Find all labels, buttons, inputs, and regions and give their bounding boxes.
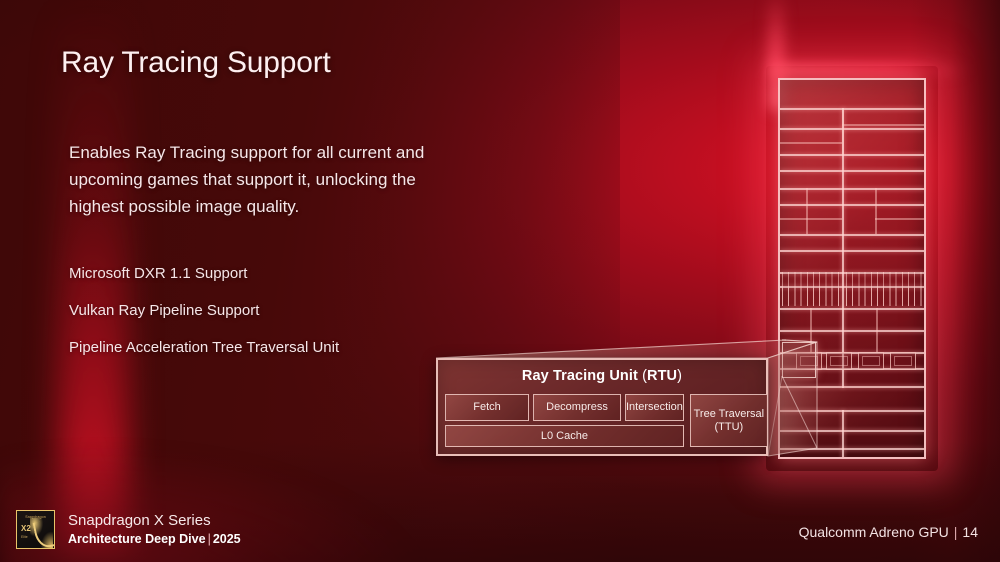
die-divider xyxy=(780,234,924,236)
die-sheen xyxy=(780,386,924,430)
die-divider xyxy=(780,218,842,220)
die-divider xyxy=(780,142,842,144)
page-title: Ray Tracing Support xyxy=(61,46,331,80)
die-sram-macro xyxy=(826,352,852,370)
footer-deck-name: Qualcomm Adreno GPU xyxy=(799,524,949,540)
die-divider xyxy=(780,170,924,172)
die-divider xyxy=(780,330,924,332)
die-divider xyxy=(875,218,924,220)
die-divider xyxy=(806,188,808,234)
die-divider xyxy=(842,108,844,154)
list-item: Vulkan Ray Pipeline Support xyxy=(69,301,489,321)
die-divider xyxy=(780,430,924,432)
footer-right-separator: | xyxy=(949,524,963,540)
chip-die-diagram xyxy=(778,78,926,459)
die-divider xyxy=(780,154,924,156)
snapdragon-logo: Snapdragon X2 Elite xyxy=(16,510,55,549)
feature-list: Microsoft DXR 1.1 Support Vulkan Ray Pip… xyxy=(69,264,489,374)
die-sram-macro xyxy=(858,352,884,370)
die-divider xyxy=(780,250,924,252)
die-divider xyxy=(780,128,924,130)
rtu-block-tree-traversal: Tree Traversal (TTU) xyxy=(690,394,768,447)
dragon-mark-icon xyxy=(30,518,53,548)
slide-canvas: Ray Tracing Support Enables Ray Tracing … xyxy=(0,0,1000,562)
rtu-title-main: Ray Tracing Unit xyxy=(522,368,642,384)
rtu-pipeline-row: Fetch Decompress Intersection xyxy=(445,394,684,421)
rtu-title-paren-close: ) xyxy=(677,368,682,384)
die-cell-array xyxy=(846,288,926,306)
footer-subtitle: Architecture Deep Dive xyxy=(68,532,206,546)
rtu-block-decompress: Decompress xyxy=(533,394,621,421)
list-item: Pipeline Acceleration Tree Traversal Uni… xyxy=(69,338,489,358)
die-divider xyxy=(780,108,924,110)
die-divider xyxy=(876,308,878,352)
die-divider xyxy=(780,204,924,206)
footer-year: 2025 xyxy=(213,532,241,546)
rtu-block-intersection: Intersection xyxy=(625,394,684,421)
page-number: 14 xyxy=(962,524,978,540)
rtu-title-abbr: RTU xyxy=(647,368,677,384)
die-divider xyxy=(780,308,924,310)
footer-product-line: Snapdragon X Series xyxy=(68,510,241,531)
footer-subtitle-line: Architecture Deep Dive|2025 xyxy=(68,531,241,549)
rtu-block-fetch: Fetch xyxy=(445,394,529,421)
rtu-title: Ray Tracing Unit (RTU) xyxy=(443,368,761,384)
die-divider xyxy=(780,188,924,190)
rtu-diagram-box: Ray Tracing Unit (RTU) Fetch Decompress … xyxy=(436,358,768,456)
die-cell-array xyxy=(782,288,840,306)
die-rtu-highlight-region xyxy=(782,342,816,378)
rtu-block-l0-cache: L0 Cache xyxy=(445,425,684,447)
rtu-pipeline-column: Fetch Decompress Intersection L0 Cache xyxy=(445,394,684,447)
die-divider xyxy=(875,188,877,234)
footer-right: Qualcomm Adreno GPU|14 xyxy=(799,524,978,540)
rtu-block-grid: Fetch Decompress Intersection L0 Cache T… xyxy=(445,394,759,447)
footer-left: Snapdragon X2 Elite Snapdragon X Series … xyxy=(16,510,241,549)
die-divider xyxy=(842,124,924,126)
footer-separator: | xyxy=(206,532,213,546)
list-item: Microsoft DXR 1.1 Support xyxy=(69,264,489,284)
die-sram-macro xyxy=(890,352,916,370)
logo-tier: Elite xyxy=(21,535,28,539)
intro-paragraph: Enables Ray Tracing support for all curr… xyxy=(69,139,459,220)
footer-text-block: Snapdragon X Series Architecture Deep Di… xyxy=(68,510,241,549)
die-divider xyxy=(780,448,924,450)
die-floorplan xyxy=(778,78,926,459)
